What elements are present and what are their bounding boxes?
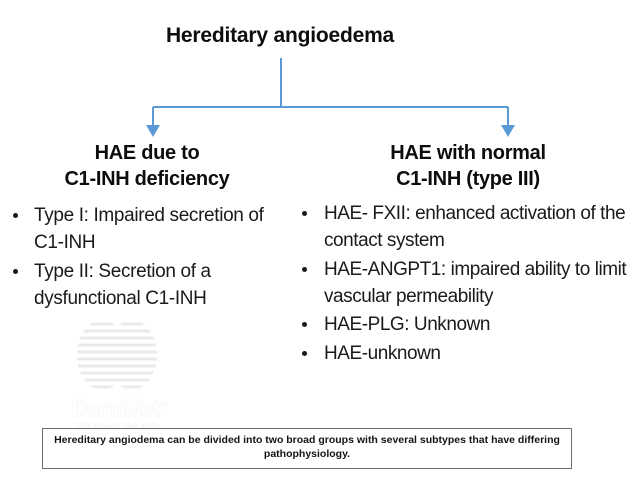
dermnet-brand-text: DermNet™ — [44, 396, 194, 422]
figure-caption: Hereditary angiodema can be divided into… — [42, 428, 572, 469]
bullet-dot-icon — [13, 213, 18, 218]
list-item: HAE-PLG: Unknown — [296, 311, 640, 338]
branch-column-right: HAE with normal C1-INH (type III) HAE- F… — [296, 140, 640, 368]
list-item: HAE-ANGPT1: impaired ability to limit va… — [296, 256, 640, 311]
dermnet-globe-icon — [74, 318, 160, 392]
list-item: HAE- FXII: enhanced activation of the co… — [296, 200, 640, 255]
bullet-dot-icon — [302, 267, 307, 272]
branch-bullet-list-left: Type I: Impaired secretion of C1-INH Typ… — [4, 202, 290, 312]
list-item: Type I: Impaired secretion of C1-INH — [4, 202, 290, 257]
trademark-icon: ™ — [159, 401, 166, 410]
list-item-label: Type I: Impaired secretion of C1-INH — [34, 205, 264, 253]
branch-heading-right-line1: HAE with normal — [390, 142, 546, 164]
bullet-dot-icon — [302, 322, 307, 327]
branch-column-left: HAE due to C1-INH deficiency Type I: Imp… — [4, 140, 290, 313]
branch-heading-left-line1: HAE due to — [95, 142, 200, 164]
list-item-label: HAE-ANGPT1: impaired ability to limit va… — [324, 259, 626, 307]
branch-heading-right: HAE with normal C1-INH (type III) — [296, 140, 640, 192]
list-item: HAE-unknown — [296, 340, 640, 367]
branch-bullet-list-right: HAE- FXII: enhanced activation of the co… — [296, 200, 640, 367]
bullet-dot-icon — [302, 351, 307, 356]
dermnet-watermark: DermNet™ All about the skin — [44, 318, 194, 440]
bullet-dot-icon — [13, 269, 18, 274]
root-node-title: Hereditary angioedema — [0, 24, 560, 48]
list-item-label: HAE- FXII: enhanced activation of the co… — [324, 203, 625, 251]
branch-heading-right-line2: C1-INH (type III) — [296, 166, 640, 192]
dermnet-brand-label: DermNet — [72, 396, 160, 421]
branch-heading-left: HAE due to C1-INH deficiency — [4, 140, 290, 192]
list-item-label: HAE-unknown — [324, 343, 441, 364]
list-item-label: Type II: Secretion of a dysfunctional C1… — [34, 261, 211, 309]
slide-canvas: Hereditary angioedema HAE due to C1-INH … — [0, 0, 640, 480]
bullet-dot-icon — [302, 211, 307, 216]
branch-heading-left-line2: C1-INH deficiency — [4, 166, 290, 192]
list-item: Type II: Secretion of a dysfunctional C1… — [4, 258, 290, 313]
list-item-label: HAE-PLG: Unknown — [324, 314, 490, 335]
